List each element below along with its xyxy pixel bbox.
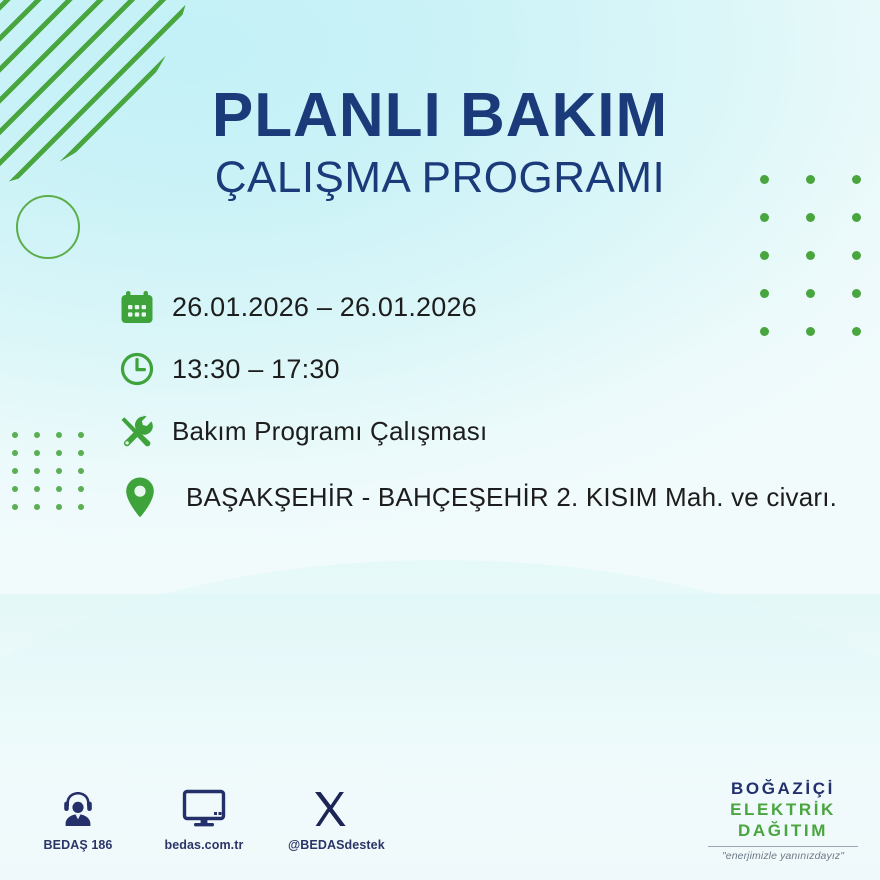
brand-tagline: "enerjimizle yanınızdayız": [704, 850, 862, 862]
page-title: PLANLI BAKIM ÇALIŞMA PROGRAMI: [0, 84, 880, 201]
circle-outline-decoration: [16, 195, 80, 259]
contact-website[interactable]: bedas.com.tr: [162, 786, 246, 852]
calendar-icon: [118, 288, 172, 326]
contact-x-label: @BEDASdestek: [288, 838, 372, 852]
x-twitter-icon: [288, 786, 372, 832]
contact-call-center-label: BEDAŞ 186: [36, 838, 120, 852]
call-center-icon: [36, 786, 120, 832]
title-subtitle: ÇALIŞMA PROGRAMI: [0, 155, 880, 201]
contact-website-label: bedas.com.tr: [162, 838, 246, 852]
detail-row-date: 26.01.2026 – 26.01.2026: [118, 276, 858, 338]
clock-icon: [118, 350, 172, 388]
detail-row-work-type: Bakım Programı Çalışması: [118, 400, 858, 462]
detail-date-value: 26.01.2026 – 26.01.2026: [172, 292, 477, 323]
brand-line-3: DAĞITIM: [704, 820, 862, 841]
detail-location-value: BAŞAKŞEHİR - BAHÇEŞEHİR 2. KISIM Mah. ve…: [176, 482, 837, 513]
dot-grid-left-decoration: [12, 432, 100, 522]
detail-time-value: 13:30 – 17:30: [172, 354, 340, 385]
map-pin-icon: [118, 475, 176, 519]
brand-line-2: ELEKTRİK: [704, 799, 862, 820]
monitor-icon: [162, 786, 246, 832]
planned-maintenance-poster: PLANLI BAKIM ÇALIŞMA PROGRAMI: [0, 0, 880, 880]
title-main: PLANLI BAKIM: [0, 84, 880, 147]
footer-contact-links: BEDAŞ 186 bedas.com.tr @BEDASdestek: [36, 786, 372, 852]
maintenance-details-list: 26.01.2026 – 26.01.2026 13:30 – 17:30: [118, 276, 858, 532]
detail-row-location: BAŞAKŞEHİR - BAHÇEŞEHİR 2. KISIM Mah. ve…: [118, 462, 858, 532]
detail-work-type-value: Bakım Programı Çalışması: [172, 416, 487, 447]
tools-icon: [118, 412, 172, 450]
contact-call-center[interactable]: BEDAŞ 186: [36, 786, 120, 852]
brand-line-1: BOĞAZİÇİ: [704, 778, 862, 799]
contact-x-account[interactable]: @BEDASdestek: [288, 786, 372, 852]
brand-logo: BOĞAZİÇİ ELEKTRİK DAĞITIM "enerjimizle y…: [704, 778, 862, 862]
brand-divider: [708, 846, 858, 847]
detail-row-time: 13:30 – 17:30: [118, 338, 858, 400]
